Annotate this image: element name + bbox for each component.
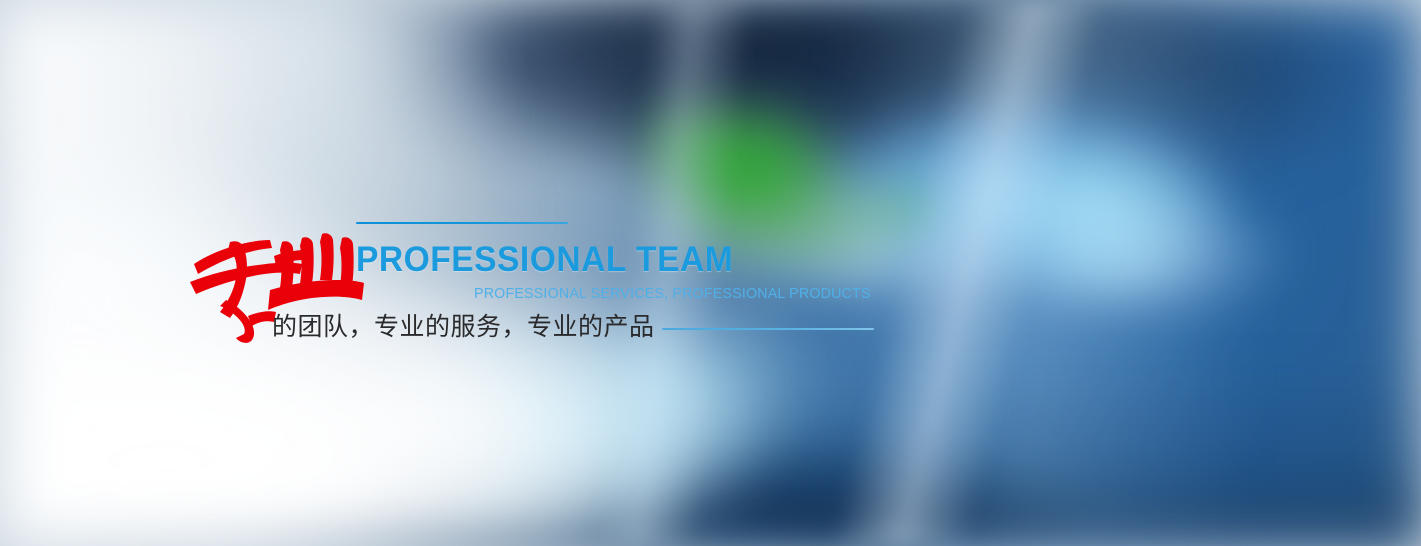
banner-headline: PROFESSIONAL TEAM	[356, 240, 733, 280]
banner-subheadline: PROFESSIONAL SERVICES, PROFESSIONAL PROD…	[474, 285, 871, 302]
hero-banner: PROFESSIONAL TEAM PROFESSIONAL SERVICES,…	[0, 0, 1421, 546]
divider-bottom	[662, 328, 874, 330]
banner-chinese-tagline: 的团队，专业的服务，专业的产品	[272, 307, 655, 343]
divider-top	[356, 222, 568, 224]
banner-content: PROFESSIONAL TEAM PROFESSIONAL SERVICES,…	[0, 0, 1421, 546]
